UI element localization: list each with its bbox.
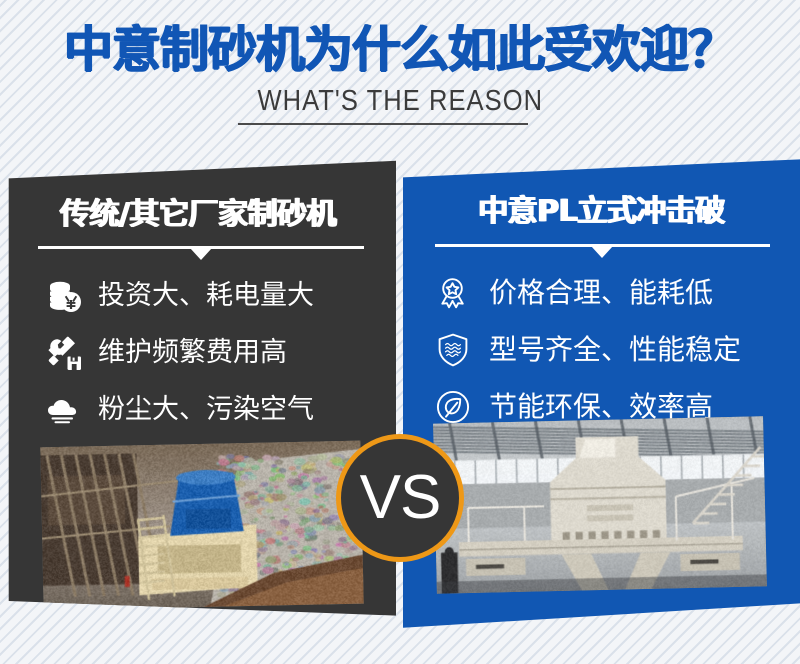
vs-badge: VS [336, 434, 464, 562]
poster-root: 中意制砂机为什么如此受欢迎？ WHAT'S THE REASON 传统/其它厂家… [0, 0, 800, 664]
leaf-circle-icon [433, 387, 473, 427]
right-panel-divider-notch-icon [591, 246, 613, 258]
left-panel-bullet-list: 投资大、耗电量大 [0, 267, 396, 438]
header: 中意制砂机为什么如此受欢迎？ WHAT'S THE REASON [0, 0, 800, 150]
list-item: 投资大、耗电量大 [0, 267, 396, 324]
right-panel-title: 中意PL立式冲击破 [403, 194, 800, 230]
right-panel-inner: 中意PL立式冲击破 价格 [403, 152, 800, 640]
left-panel-divider-notch-icon [190, 248, 212, 260]
left-panel-title: 传统/其它厂家制砂机 [0, 197, 396, 233]
list-item-label: 价格合理、能耗低 [489, 277, 713, 309]
page-title: 中意制砂机为什么如此受欢迎？ [0, 0, 800, 78]
traditional-machine-panel: 传统/其它厂家制砂机 [0, 152, 396, 640]
subtitle-underline [238, 123, 528, 125]
list-item-label: 维护频繁费用高 [98, 337, 287, 369]
traditional-machine-photo [40, 441, 363, 611]
list-item-label: 粉尘大、污染空气 [98, 394, 314, 426]
list-item: 价格合理、能耗低 [403, 264, 800, 321]
subtitle-wrap: WHAT'S THE REASON [238, 84, 563, 125]
traditional-machine-photo-canvas [40, 441, 363, 611]
shield-icon [433, 330, 473, 370]
list-item-label: 型号齐全、性能稳定 [489, 334, 741, 366]
page-subtitle: WHAT'S THE REASON [257, 84, 543, 118]
left-panel-inner: 传统/其它厂家制砂机 [0, 152, 396, 640]
zhongyi-machine-photo-canvas [433, 416, 767, 593]
zhongyi-machine-photo [433, 416, 767, 593]
list-item: 型号齐全、性能稳定 [403, 321, 800, 378]
list-item: 维护频繁费用高 [0, 324, 396, 381]
wrench-screwdriver-icon [44, 333, 84, 373]
list-item: 粉尘大、污染空气 [0, 381, 396, 438]
list-item-label: 投资大、耗电量大 [98, 280, 314, 312]
zhongyi-machine-panel: 中意PL立式冲击破 价格 [403, 152, 800, 640]
dust-cloud-icon [44, 390, 84, 430]
award-ribbon-icon [433, 273, 473, 313]
vs-badge-label: VS [360, 467, 441, 529]
coins-yuan-icon [44, 276, 84, 316]
right-panel-bullet-list: 价格合理、能耗低 [403, 264, 800, 435]
